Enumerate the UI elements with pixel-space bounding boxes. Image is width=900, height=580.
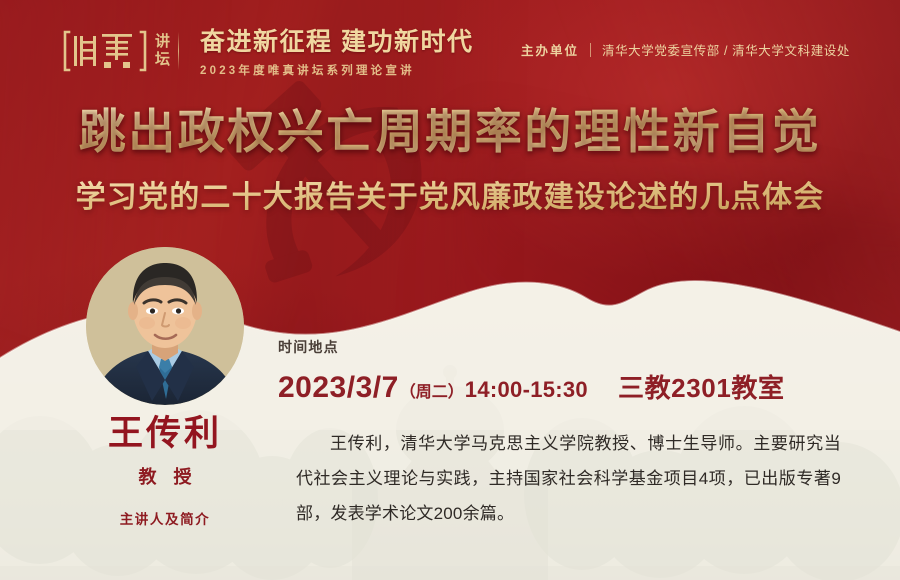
- lecture-poster: 讲 坛 奋进新征程 建功新时代 2023年度唯真讲坛系列理论宣讲 主办单位 清华…: [0, 0, 900, 580]
- organizer-info: 主办单位 清华大学党委宣传部 / 清华大学文科建设处: [521, 40, 850, 59]
- schedule-label: 时间地点: [278, 337, 785, 357]
- speaker-name: 王传利: [60, 415, 270, 454]
- title-block: 跳出政权兴亡周期率的理性新自觉 学习党的二十大报告关于党风廉政建设论述的几点体会: [0, 104, 900, 216]
- speaker-avatar: [86, 247, 244, 405]
- lecture-title: 跳出政权兴亡周期率的理性新自觉: [0, 104, 900, 159]
- brand-logo: 讲 坛: [62, 26, 171, 76]
- brand-char-tan: 坛: [155, 52, 171, 68]
- schedule-block: 时间地点 2023/3/7 （周二） 14:00-15:30 三教2301教室: [278, 337, 785, 405]
- speaker-block: 王传利 教 授 主讲人及简介: [60, 415, 270, 528]
- lecture-subtitle: 学习党的二十大报告关于党风廉政建设论述的几点体会: [0, 172, 900, 216]
- weizhen-seal-icon: [62, 26, 148, 76]
- slogan-sub: 2023年度唯真讲坛系列理论宣讲: [200, 62, 473, 78]
- brand-char-jiang: 讲: [155, 34, 171, 50]
- slogan-main: 奋进新征程 建功新时代: [200, 28, 473, 56]
- speaker-photo: [86, 247, 244, 405]
- speaker-section-label: 主讲人及简介: [60, 508, 270, 528]
- brand-jiangtan-text: 讲 坛: [155, 34, 171, 68]
- brand-divider: [178, 32, 179, 70]
- organizer-label: 主办单位: [521, 40, 579, 59]
- organizer-value: 清华大学党委宣传部 / 清华大学文科建设处: [602, 40, 850, 59]
- organizer-separator: [590, 43, 591, 57]
- speaker-title: 教 授: [60, 463, 270, 489]
- poster-header: 讲 坛 奋进新征程 建功新时代 2023年度唯真讲坛系列理论宣讲 主办单位 清华…: [0, 0, 900, 96]
- schedule-date: 2023/3/7: [278, 371, 399, 405]
- slogan-block: 奋进新征程 建功新时代 2023年度唯真讲坛系列理论宣讲: [200, 28, 473, 78]
- schedule-room: 三教2301教室: [588, 368, 785, 405]
- schedule-time: 14:00-15:30: [465, 377, 588, 403]
- schedule-values: 2023/3/7 （周二） 14:00-15:30 三教2301教室: [278, 368, 785, 405]
- schedule-weekday: （周二）: [399, 378, 465, 402]
- speaker-bio: 王传利，清华大学马克思主义学院教授、博士生导师。主要研究当代社会主义理论与实践，…: [296, 427, 841, 532]
